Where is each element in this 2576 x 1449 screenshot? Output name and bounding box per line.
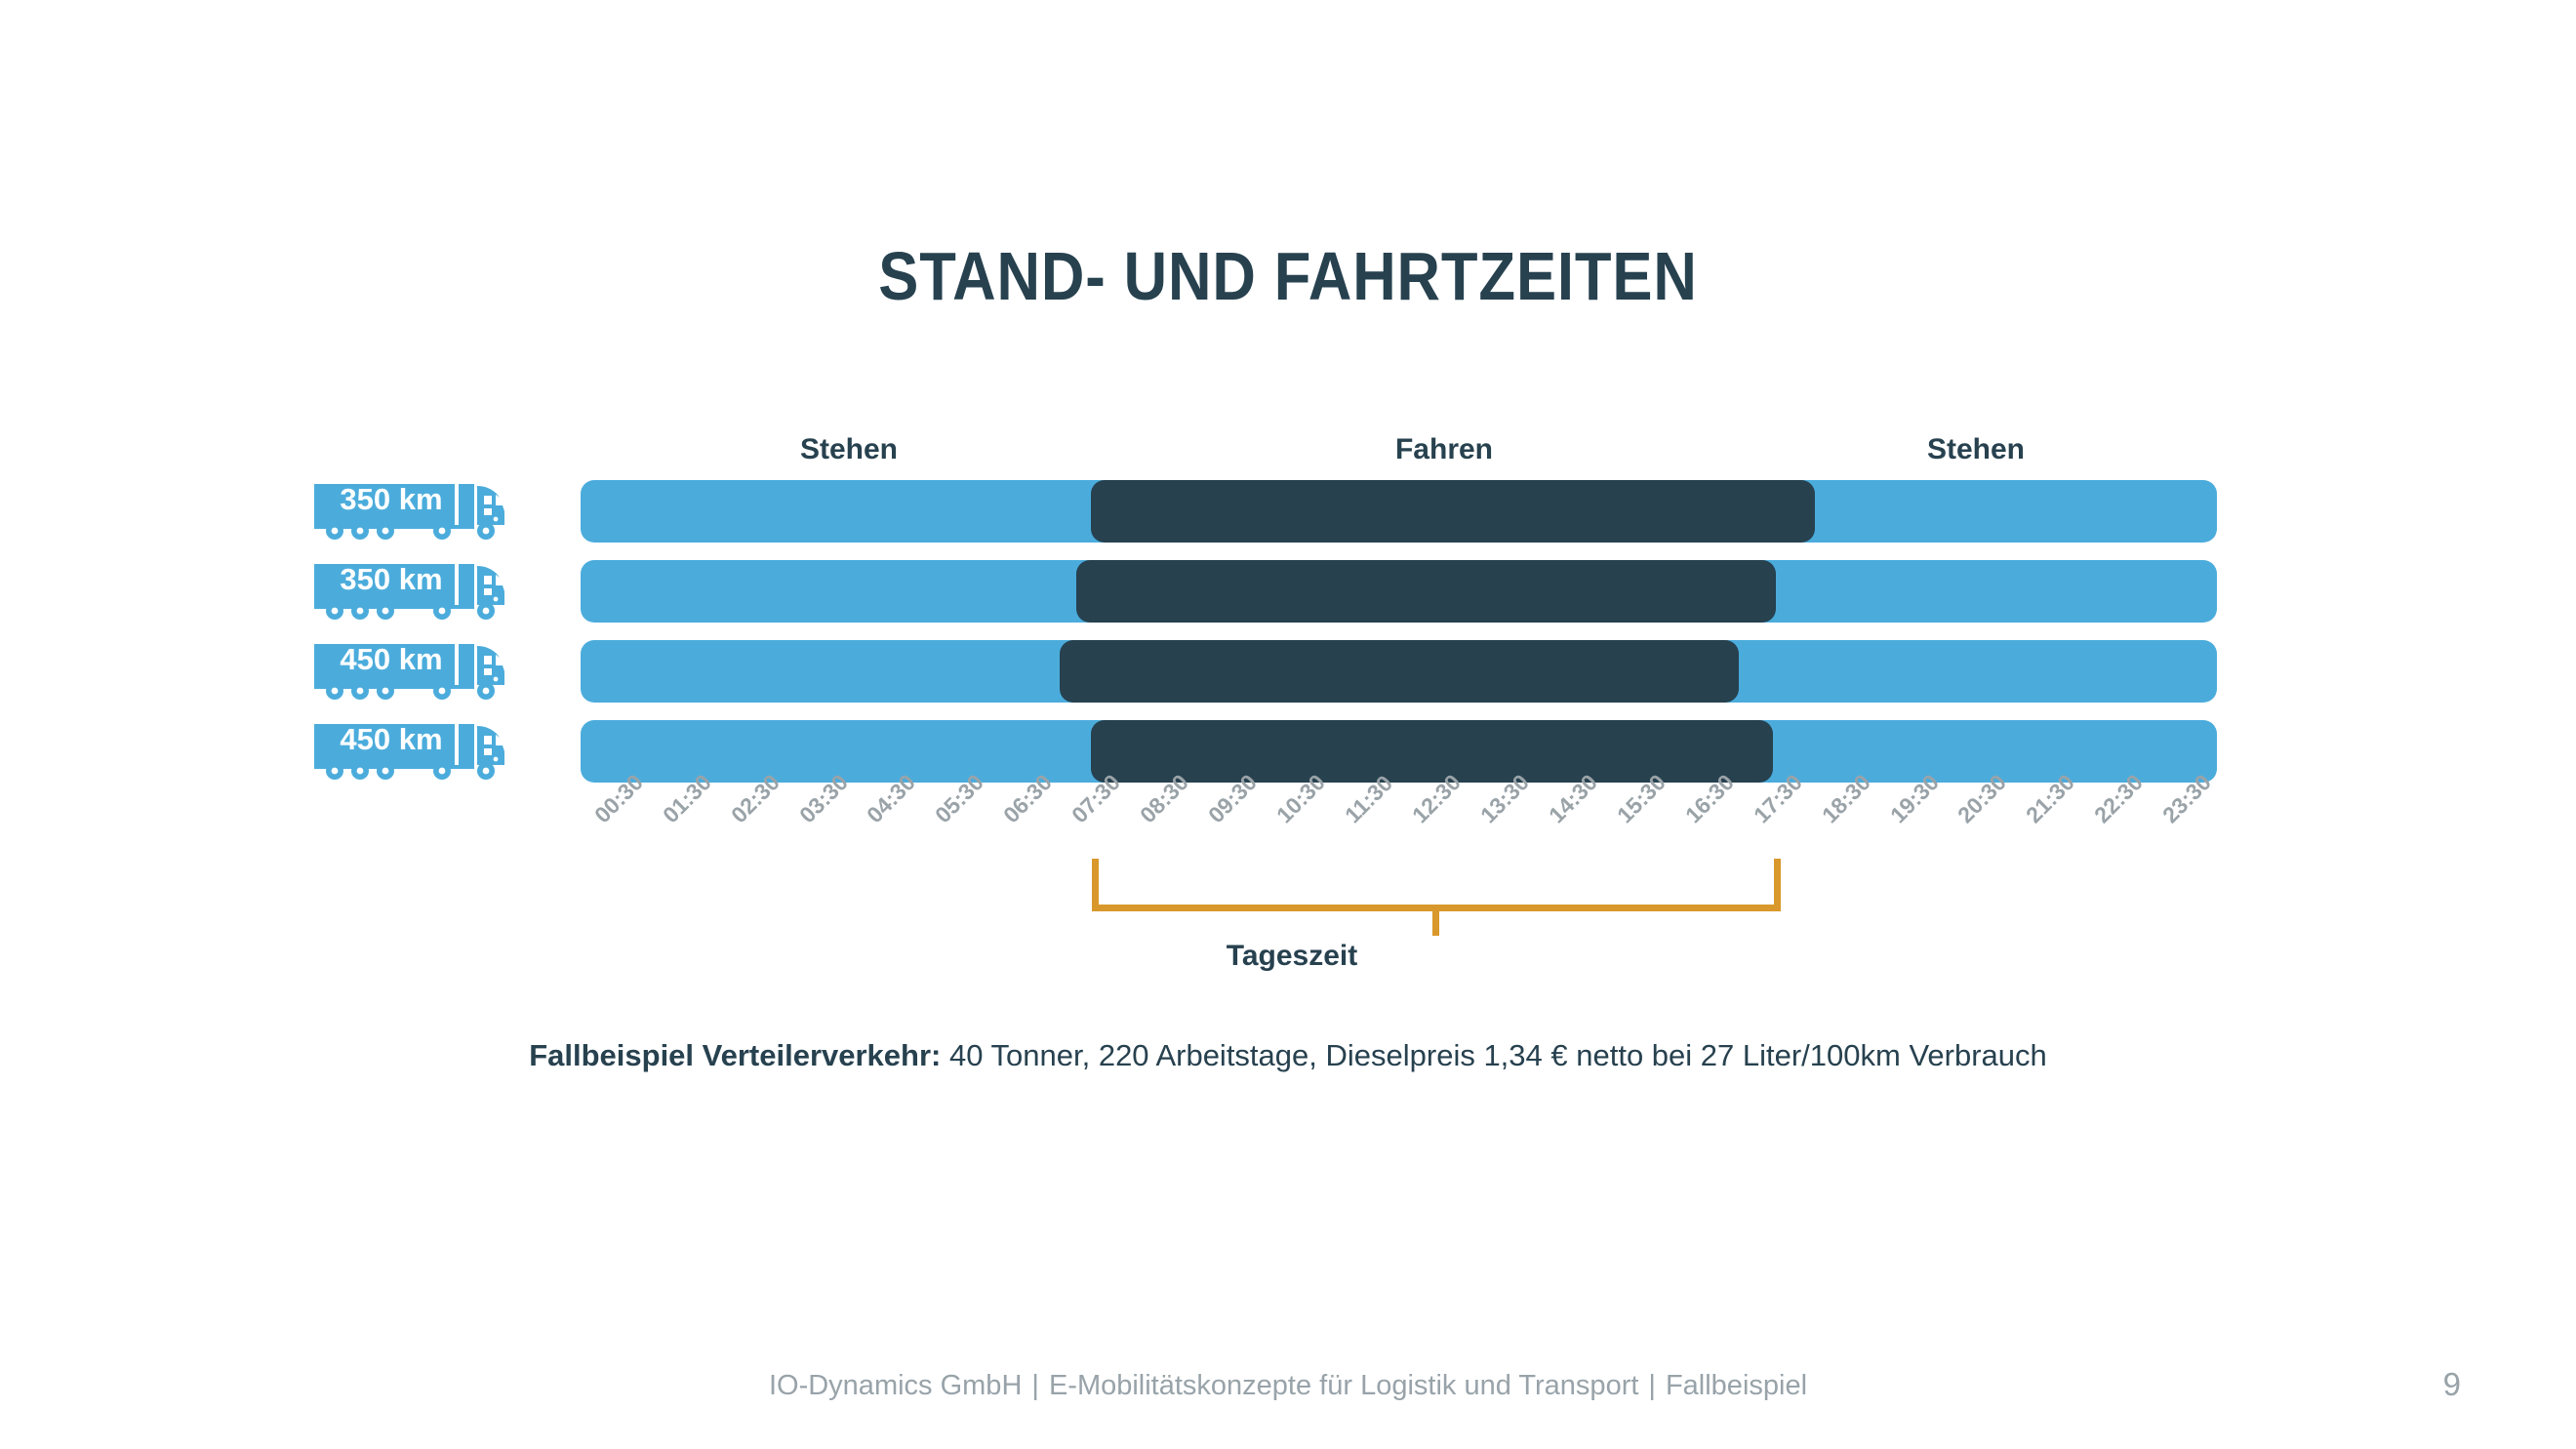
truck-icon: 350 km — [310, 560, 510, 623]
truck-range-label: 450 km — [328, 722, 455, 757]
chart-row: 350 km — [0, 480, 2576, 543]
case-example-caption-rest: 40 Tonner, 220 Arbeitstage, Dieselpreis … — [941, 1038, 2046, 1072]
column-header-label: Stehen — [1927, 433, 2025, 465]
slide: STAND- UND FAHRTZEITEN StehenFahrenStehe… — [0, 0, 2576, 1449]
bar-driving — [1091, 480, 1815, 543]
chart-row: 350 km — [0, 560, 2576, 623]
truck-icon: 350 km — [310, 480, 510, 543]
bracket-left-tick — [1092, 859, 1099, 911]
footer-company: IO-Dynamics GmbH — [769, 1370, 1022, 1401]
truck-range-label: 350 km — [328, 562, 455, 597]
column-header-1: Stehen — [800, 433, 898, 466]
footer-separator-1: | — [1022, 1370, 1049, 1401]
bracket-center-tick — [1432, 905, 1439, 936]
bracket-right-tick — [1774, 859, 1781, 911]
stand-und-fahrtzeiten-chart: StehenFahrenStehen350 km350 km450 km450 … — [0, 0, 2576, 1449]
chart-row: 450 km — [0, 640, 2576, 703]
footer-section: Fallbeispiel — [1666, 1370, 1807, 1401]
footer-separator-2: | — [1638, 1370, 1666, 1401]
bar-driving — [1091, 720, 1773, 783]
case-example-caption: Fallbeispiel Verteilerverkehr: 40 Tonner… — [0, 1038, 2576, 1073]
case-example-caption-bold: Fallbeispiel Verteilerverkehr: — [529, 1038, 941, 1072]
slide-footer: IO-Dynamics GmbH|E-Mobilitätskonzepte fü… — [0, 1370, 2576, 1402]
column-header-label: Fahren — [1395, 433, 1493, 465]
daytime-bracket — [0, 859, 2576, 927]
chart-row: 450 km — [0, 720, 2576, 783]
truck-range-label: 350 km — [328, 482, 455, 517]
bar-driving — [1076, 560, 1776, 623]
bracket-axis-label: Tageszeit — [0, 940, 2576, 973]
bar-driving — [1060, 640, 1739, 703]
column-header-2: Fahren — [1395, 433, 1493, 466]
page-number: 9 — [2443, 1366, 2461, 1403]
column-header-3: Stehen — [1927, 433, 2025, 466]
footer-topic: E-Mobilitätskonzepte für Logistik und Tr… — [1049, 1370, 1638, 1401]
column-header-label: Stehen — [800, 433, 898, 465]
truck-icon: 450 km — [310, 640, 510, 703]
truck-icon: 450 km — [310, 720, 510, 783]
bracket-axis-label-text: Tageszeit — [1227, 940, 1358, 972]
truck-range-label: 450 km — [328, 642, 455, 677]
